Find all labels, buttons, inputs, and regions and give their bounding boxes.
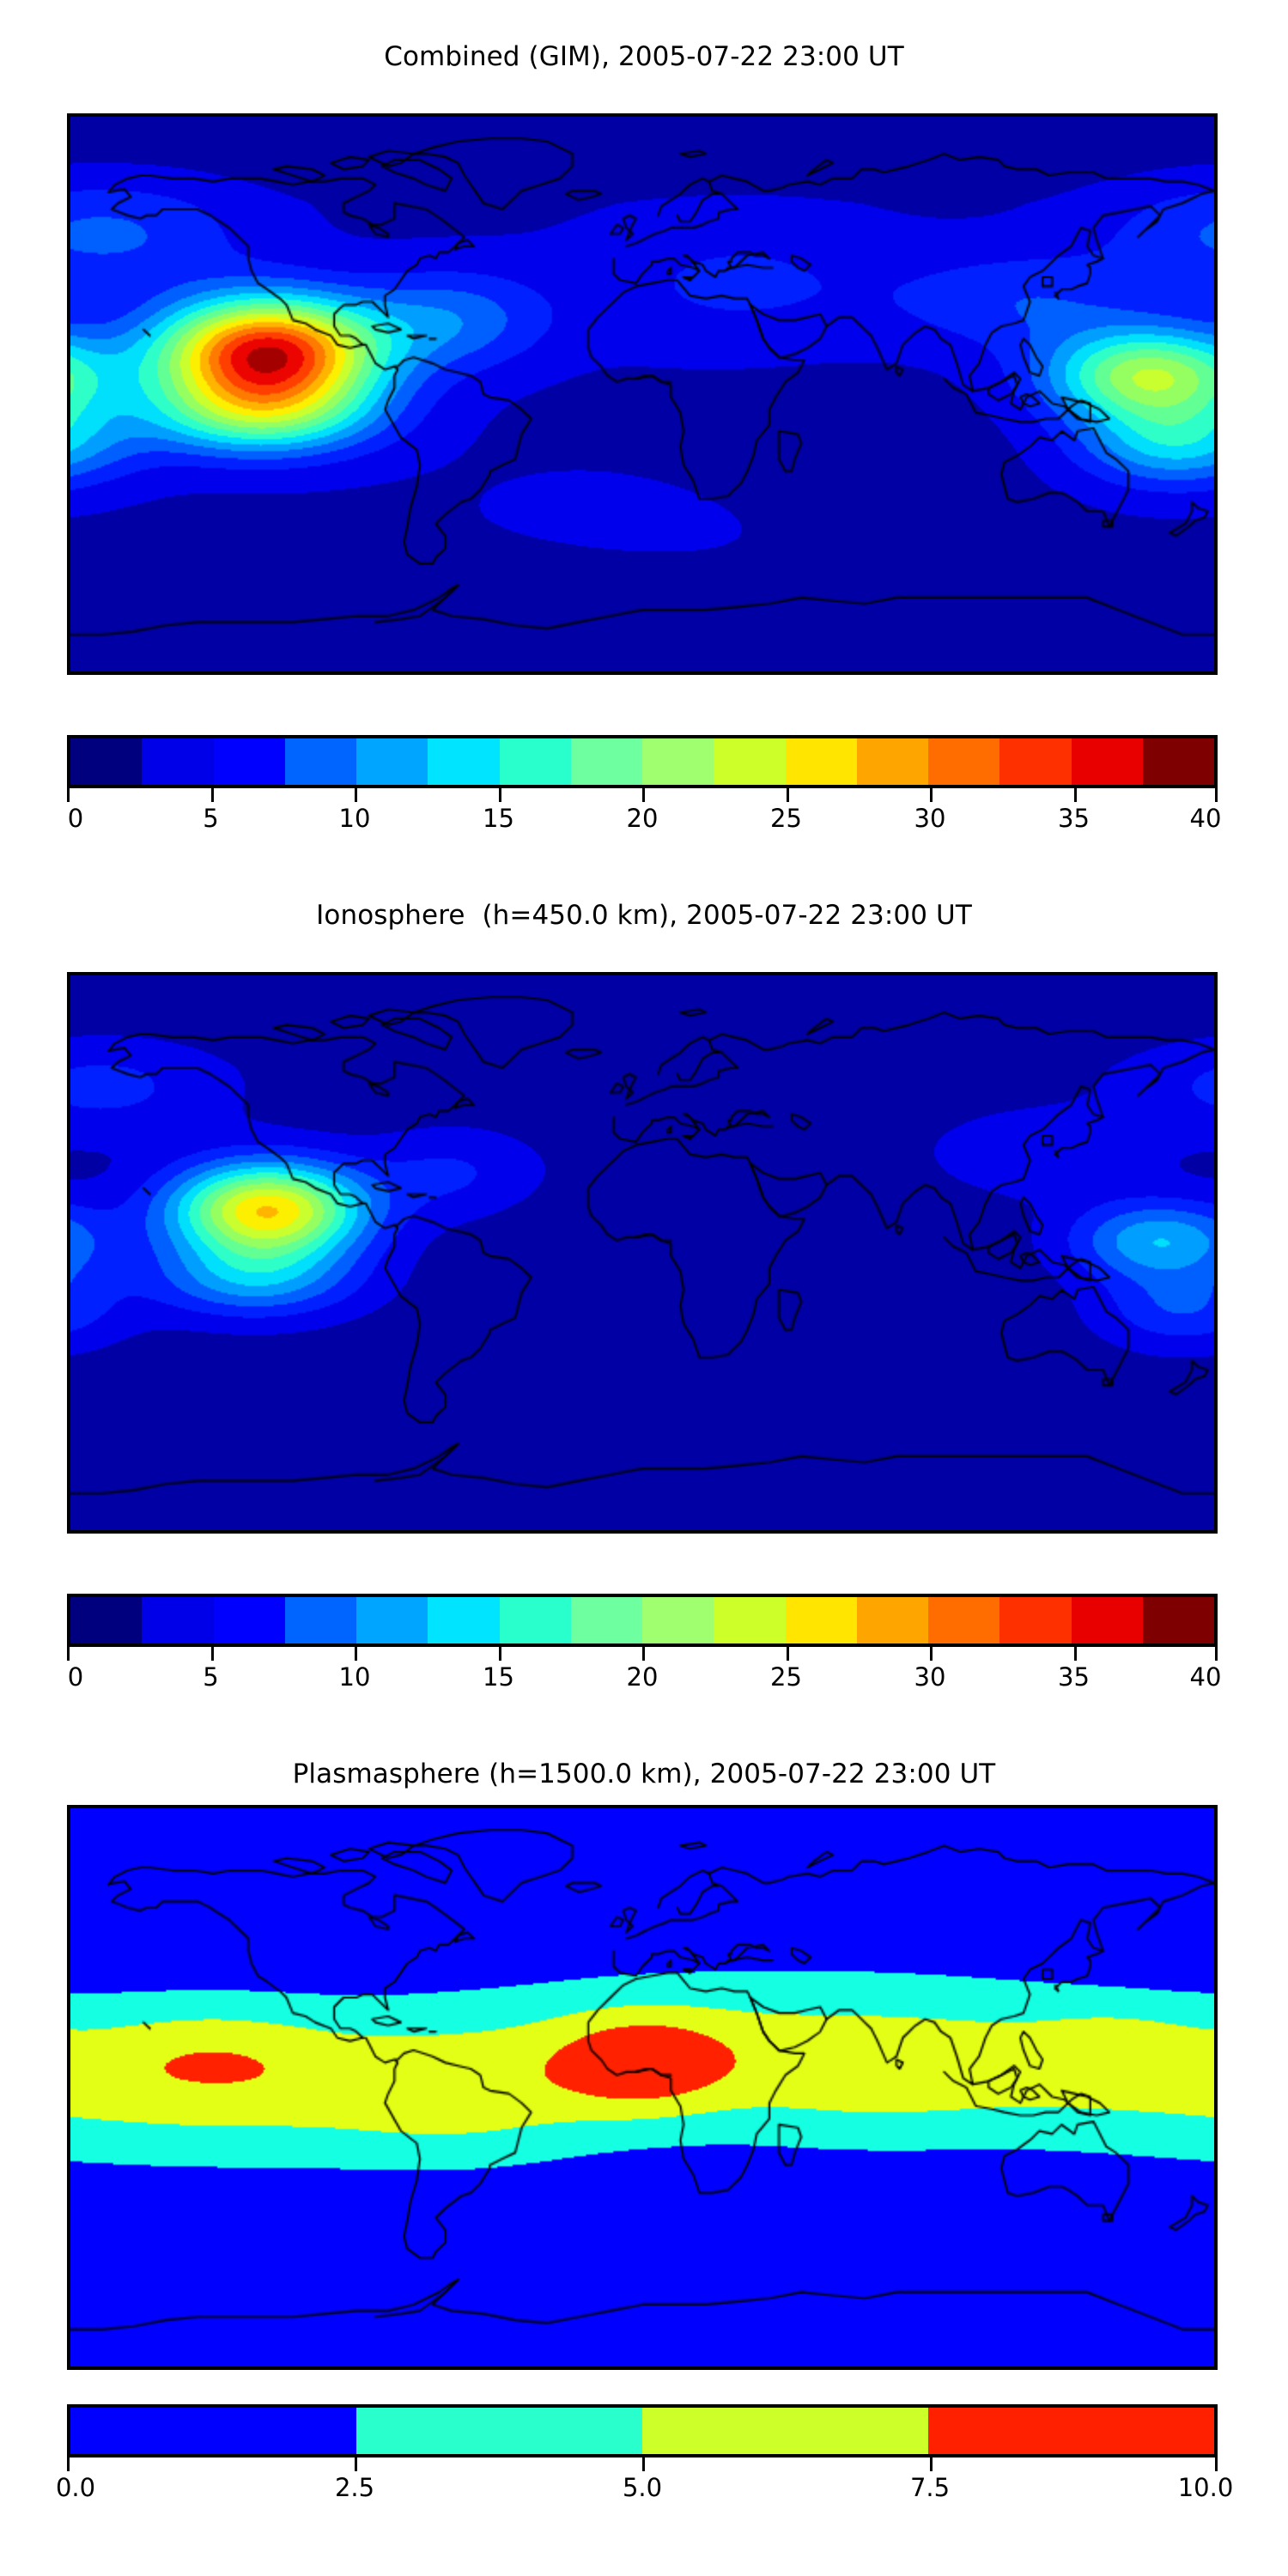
colorbar-band-14 [1072, 738, 1143, 785]
colorbar-band-3 [928, 2408, 1214, 2454]
colorbar-band-14 [1072, 1597, 1143, 1643]
colorbar-tick-label: 40 [1190, 804, 1222, 833]
colorbar-band-8 [642, 1597, 714, 1643]
colorbar-tick [1074, 1647, 1077, 1661]
colorbar-band-4 [356, 738, 428, 785]
colorbar-band-9 [714, 1597, 785, 1643]
panel-ionosphere: Ionosphere (h=450.0 km), 2005-07-22 23:0… [0, 859, 1288, 1717]
panel-plasmasphere: Plasmasphere (h=1500.0 km), 2005-07-22 2… [0, 1717, 1288, 2576]
colorbar-band-2 [642, 2408, 928, 2454]
colorbar-tick-label: 10.0 [1178, 2473, 1234, 2502]
colorbar-ticks-combined [67, 788, 1218, 804]
colorbar-tick [67, 2458, 70, 2471]
colorbar-gradient-plasmasphere [67, 2404, 1218, 2458]
colorbar-tick-label: 35 [1058, 1662, 1090, 1692]
colorbar-band-3 [285, 1597, 356, 1643]
colorbar-tick-label: 5.0 [623, 2473, 662, 2502]
colorbar-band-10 [786, 738, 857, 785]
colorbar-band-4 [356, 1597, 428, 1643]
colorbar-tick-label: 5 [203, 1662, 218, 1692]
colorbar-tick [930, 1647, 933, 1661]
colorbar-ionosphere[interactable]: 0510152025303540 [67, 1594, 1218, 1705]
colorbar-gradient-combined [67, 735, 1218, 788]
colorbar-band-2 [214, 1597, 285, 1643]
colorbar-tick-label: 35 [1058, 804, 1090, 833]
colorbar-band-11 [857, 1597, 928, 1643]
colorbar-tick [787, 788, 789, 802]
colorbar-tick-label: 5 [203, 804, 218, 833]
colorbar-tick-label: 7.5 [910, 2473, 950, 2502]
colorbar-band-12 [928, 1597, 999, 1643]
map-combined-gim[interactable] [67, 113, 1218, 675]
colorbar-tick-label: 25 [770, 804, 802, 833]
colorbar-band-7 [571, 738, 642, 785]
map-canvas-ionosphere [70, 975, 1214, 1530]
colorbar-band-6 [500, 738, 571, 785]
colorbar-tick [211, 1647, 214, 1661]
colorbar-tick-label: 2.5 [335, 2473, 374, 2502]
colorbar-band-7 [571, 1597, 642, 1643]
colorbar-tick-label: 0 [68, 1662, 83, 1692]
colorbar-tick-label: 30 [914, 1662, 946, 1692]
colorbar-band-15 [1143, 738, 1214, 785]
colorbar-labels-ionosphere: 0510152025303540 [67, 1662, 1218, 1697]
colorbar-tick-label: 10 [339, 1662, 371, 1692]
colorbar-tick [787, 1647, 789, 1661]
colorbar-tick [499, 1647, 501, 1661]
colorbar-tick [642, 788, 645, 802]
panel-title-combined: Combined (GIM), 2005-07-22 23:00 UT [0, 41, 1288, 72]
colorbar-tick [499, 788, 501, 802]
map-plasmasphere[interactable] [67, 1805, 1218, 2370]
colorbar-tick [211, 788, 214, 802]
colorbar-tick-label: 0 [68, 804, 83, 833]
colorbar-tick-label: 25 [770, 1662, 802, 1692]
colorbar-band-5 [428, 738, 499, 785]
colorbar-tick-label: 15 [483, 1662, 514, 1692]
colorbar-ticks-plasmasphere [67, 2458, 1218, 2473]
colorbar-tick-label: 40 [1190, 1662, 1222, 1692]
panel-title-ionosphere: Ionosphere (h=450.0 km), 2005-07-22 23:0… [0, 900, 1288, 931]
colorbar-gradient-ionosphere [67, 1594, 1218, 1647]
colorbar-band-2 [214, 738, 285, 785]
colorbar-band-6 [500, 1597, 571, 1643]
colorbar-tick-label: 20 [627, 804, 659, 833]
colorbar-tick-label: 30 [914, 804, 946, 833]
colorbar-tick [1074, 788, 1077, 802]
colorbar-band-1 [142, 738, 213, 785]
colorbar-tick [355, 2458, 357, 2471]
colorbar-tick [642, 1647, 645, 1661]
colorbar-labels-plasmasphere: 0.02.55.07.510.0 [67, 2473, 1218, 2507]
colorbar-band-9 [714, 738, 785, 785]
colorbar-band-11 [857, 738, 928, 785]
colorbar-tick [67, 1647, 70, 1661]
panel-combined-gim: Combined (GIM), 2005-07-22 23:00 UT 0510… [0, 0, 1288, 859]
colorbar-tick-label: 15 [483, 804, 514, 833]
colorbar-band-10 [786, 1597, 857, 1643]
colorbar-band-1 [356, 2408, 642, 2454]
colorbar-band-5 [428, 1597, 499, 1643]
colorbar-tick [355, 788, 357, 802]
colorbar-tick [930, 2458, 933, 2471]
colorbar-band-13 [999, 1597, 1071, 1643]
colorbar-ticks-ionosphere [67, 1647, 1218, 1662]
colorbar-band-0 [70, 2408, 356, 2454]
colorbar-band-15 [1143, 1597, 1214, 1643]
colorbar-tick [67, 788, 70, 802]
colorbar-tick [1215, 1647, 1218, 1661]
panel-title-plasmasphere: Plasmasphere (h=1500.0 km), 2005-07-22 2… [0, 1759, 1288, 1789]
colorbar-tick [930, 788, 933, 802]
colorbar-combined[interactable]: 0510152025303540 [67, 735, 1218, 847]
colorbar-labels-combined: 0510152025303540 [67, 804, 1218, 838]
colorbar-tick [1215, 2458, 1218, 2471]
colorbar-tick-label: 10 [339, 804, 371, 833]
colorbar-tick [355, 1647, 357, 1661]
colorbar-tick [1215, 788, 1218, 802]
colorbar-band-0 [70, 1597, 142, 1643]
colorbar-tick-label: 20 [627, 1662, 659, 1692]
colorbar-plasmasphere[interactable]: 0.02.55.07.510.0 [67, 2404, 1218, 2516]
colorbar-band-12 [928, 738, 999, 785]
map-ionosphere[interactable] [67, 972, 1218, 1534]
colorbar-tick [642, 2458, 645, 2471]
colorbar-band-0 [70, 738, 142, 785]
colorbar-band-3 [285, 738, 356, 785]
colorbar-band-13 [999, 738, 1071, 785]
colorbar-tick-label: 0.0 [56, 2473, 95, 2502]
map-canvas-combined [70, 117, 1214, 671]
colorbar-band-1 [142, 1597, 213, 1643]
colorbar-band-8 [642, 738, 714, 785]
map-canvas-plasmasphere [70, 1808, 1214, 2366]
